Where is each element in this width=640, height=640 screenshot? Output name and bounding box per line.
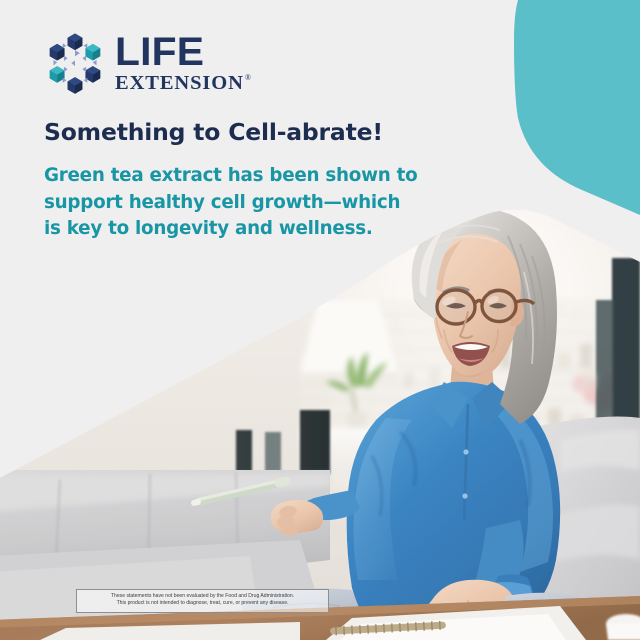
body-copy-line-3: is key to longevity and wellness. <box>44 216 374 243</box>
registered-trademark-icon: ® <box>245 74 251 82</box>
fda-disclaimer-line-1: These statements have not been evaluated… <box>81 593 324 600</box>
brand-logo[interactable]: LIFE EXTENSION ® <box>44 31 251 95</box>
life-extension-hex-cube-logo-icon <box>44 31 106 95</box>
fda-disclaimer-line-2: This product is not intended to diagnose… <box>81 600 324 607</box>
brand-name-extension-row: EXTENSION ® <box>115 73 251 94</box>
fda-disclaimer: These statements have not been evaluated… <box>76 589 329 613</box>
teal-corner-shape <box>470 0 640 215</box>
body-copy-line-2: support healthy cell growth—which <box>44 190 374 217</box>
body-copy: Green tea extract has been shown to supp… <box>44 163 374 243</box>
brand-name-extension: EXTENSION <box>115 73 244 94</box>
headline: Something to Cell-abrate! <box>44 118 464 146</box>
brand-name-life: LIFE <box>115 33 254 71</box>
body-copy-line-1: Green tea extract has been shown to <box>44 163 374 190</box>
brand-wordmark: LIFE EXTENSION ® <box>115 32 251 94</box>
advertisement-creative: LIFE EXTENSION ® Something to Cell-abrat… <box>0 0 640 640</box>
